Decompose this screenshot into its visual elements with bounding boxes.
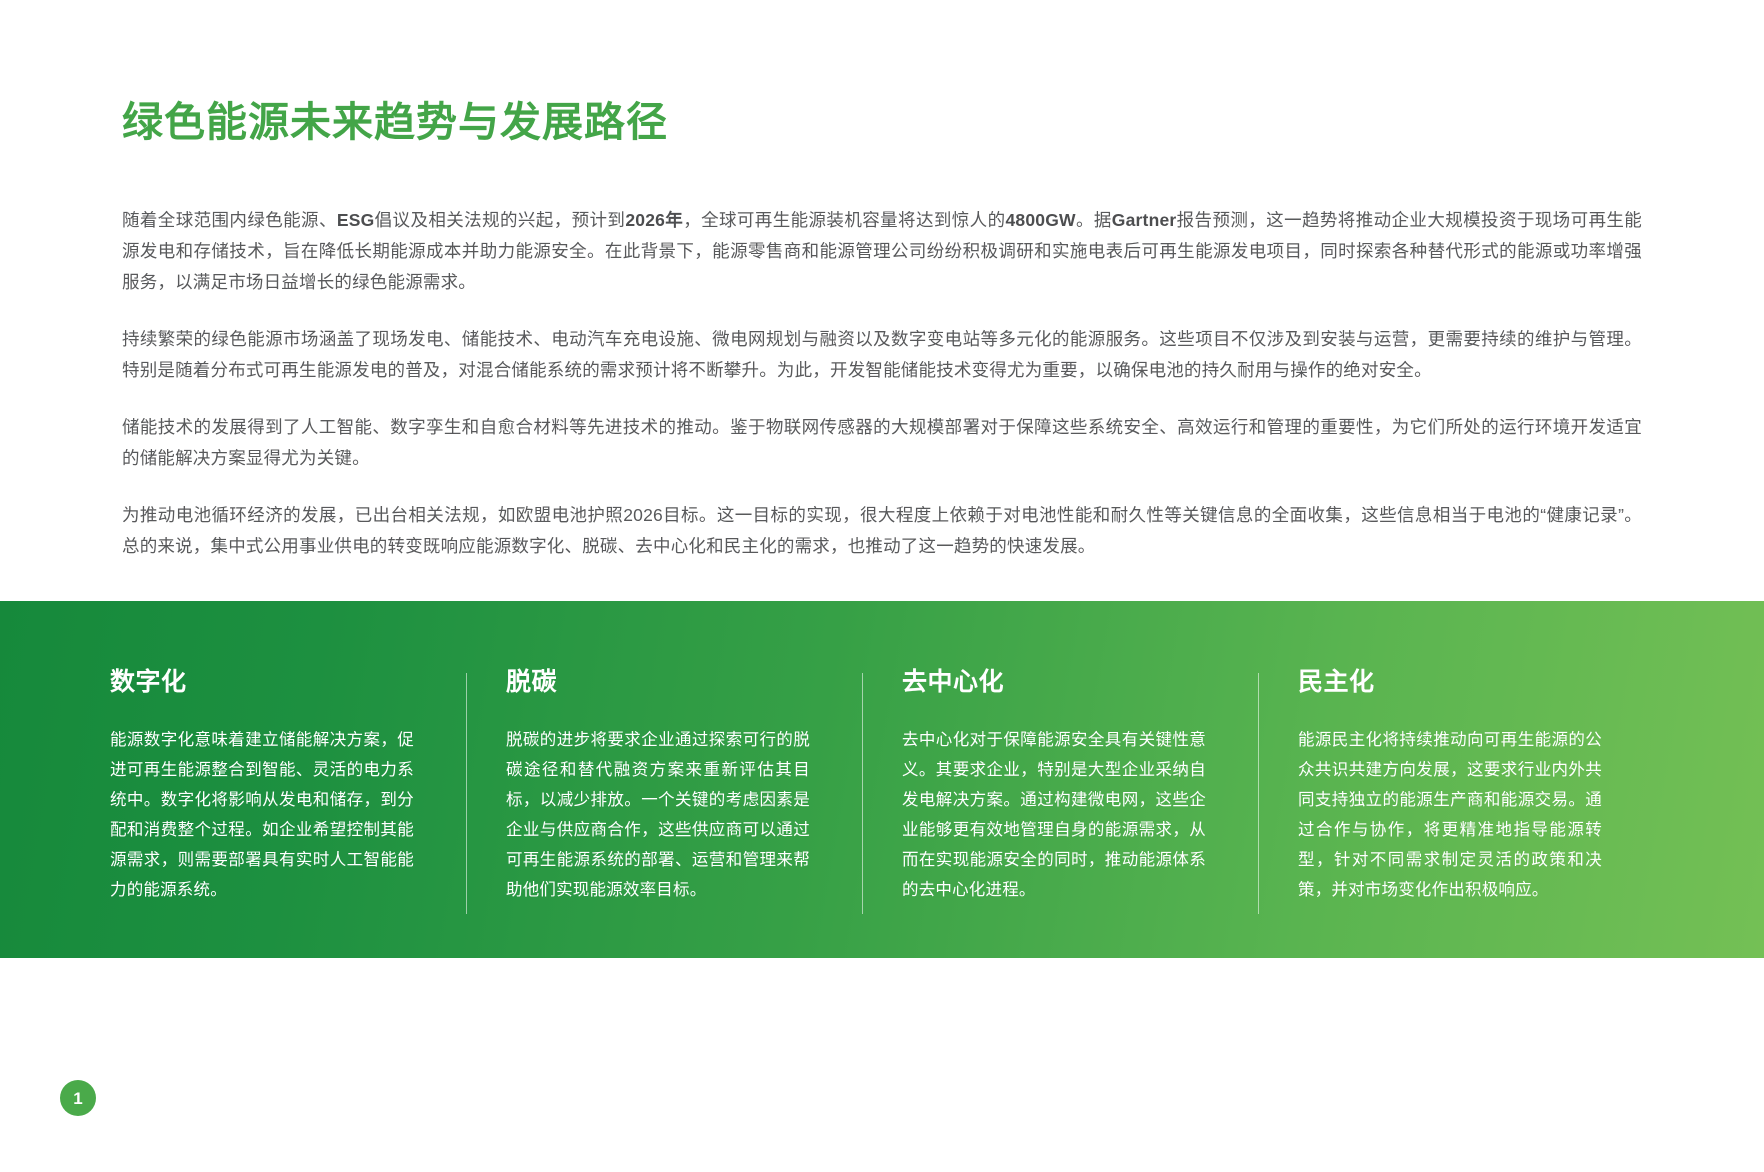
emphasis: 4800GW	[1006, 210, 1076, 230]
title-area: 绿色能源未来趋势与发展路径	[122, 96, 1542, 149]
emphasis: Gartner	[1112, 210, 1177, 230]
body-paragraph-4: 为推动电池循环经济的发展，已出台相关法规，如欧盟电池护照2026目标。这一目标的…	[122, 500, 1642, 562]
page-title: 绿色能源未来趋势与发展路径	[122, 96, 1542, 149]
pillar-card-text: 能源民主化将持续推动向可再生能源的公众共识共建方向发展，这要求行业内外共同支持独…	[1298, 725, 1602, 905]
body-paragraph-1: 随着全球范围内绿色能源、ESG倡议及相关法规的兴起，预计到2026年，全球可再生…	[122, 205, 1642, 298]
pillar-card-text: 脱碳的进步将要求企业通过探索可行的脱碳途径和替代融资方案来重新评估其目标，以减少…	[506, 725, 810, 905]
pillar-card-text: 能源数字化意味着建立储能解决方案，促进可再生能源整合到智能、灵活的电力系统中。数…	[110, 725, 414, 905]
pillar-card-digitalization: 数字化 能源数字化意味着建立储能解决方案，促进可再生能源整合到智能、灵活的电力系…	[110, 601, 466, 958]
pillar-card-title: 数字化	[110, 667, 414, 697]
green-highlight-band: 数字化 能源数字化意味着建立储能解决方案，促进可再生能源整合到智能、灵活的电力系…	[0, 601, 1764, 958]
emphasis: ESG	[337, 210, 375, 230]
pillar-card-text: 去中心化对于保障能源安全具有关键性意义。其要求企业，特别是大型企业采纳自发电解决…	[902, 725, 1206, 905]
emphasis: 2026年	[625, 210, 683, 230]
body-paragraph-3: 储能技术的发展得到了人工智能、数字孪生和自愈合材料等先进技术的推动。鉴于物联网传…	[122, 412, 1642, 474]
body-text-area: 随着全球范围内绿色能源、ESG倡议及相关法规的兴起，预计到2026年，全球可再生…	[122, 205, 1642, 562]
document-page: 绿色能源未来趋势与发展路径 随着全球范围内绿色能源、ESG倡议及相关法规的兴起，…	[0, 0, 1764, 1172]
card-divider	[862, 673, 863, 914]
page-number-badge: 1	[60, 1080, 96, 1116]
pillar-card-title: 去中心化	[902, 667, 1206, 697]
pillar-card-democratization: 民主化 能源民主化将持续推动向可再生能源的公众共识共建方向发展，这要求行业内外共…	[1258, 601, 1654, 958]
pillar-card-title: 民主化	[1298, 667, 1602, 697]
card-divider	[1258, 673, 1259, 914]
pillar-card-decarbonization: 脱碳 脱碳的进步将要求企业通过探索可行的脱碳途径和替代融资方案来重新评估其目标，…	[466, 601, 862, 958]
card-divider	[466, 673, 467, 914]
body-paragraph-2: 持续繁荣的绿色能源市场涵盖了现场发电、储能技术、电动汽车充电设施、微电网规划与融…	[122, 324, 1642, 386]
pillar-card-decentralization: 去中心化 去中心化对于保障能源安全具有关键性意义。其要求企业，特别是大型企业采纳…	[862, 601, 1258, 958]
pillar-card-title: 脱碳	[506, 667, 810, 697]
